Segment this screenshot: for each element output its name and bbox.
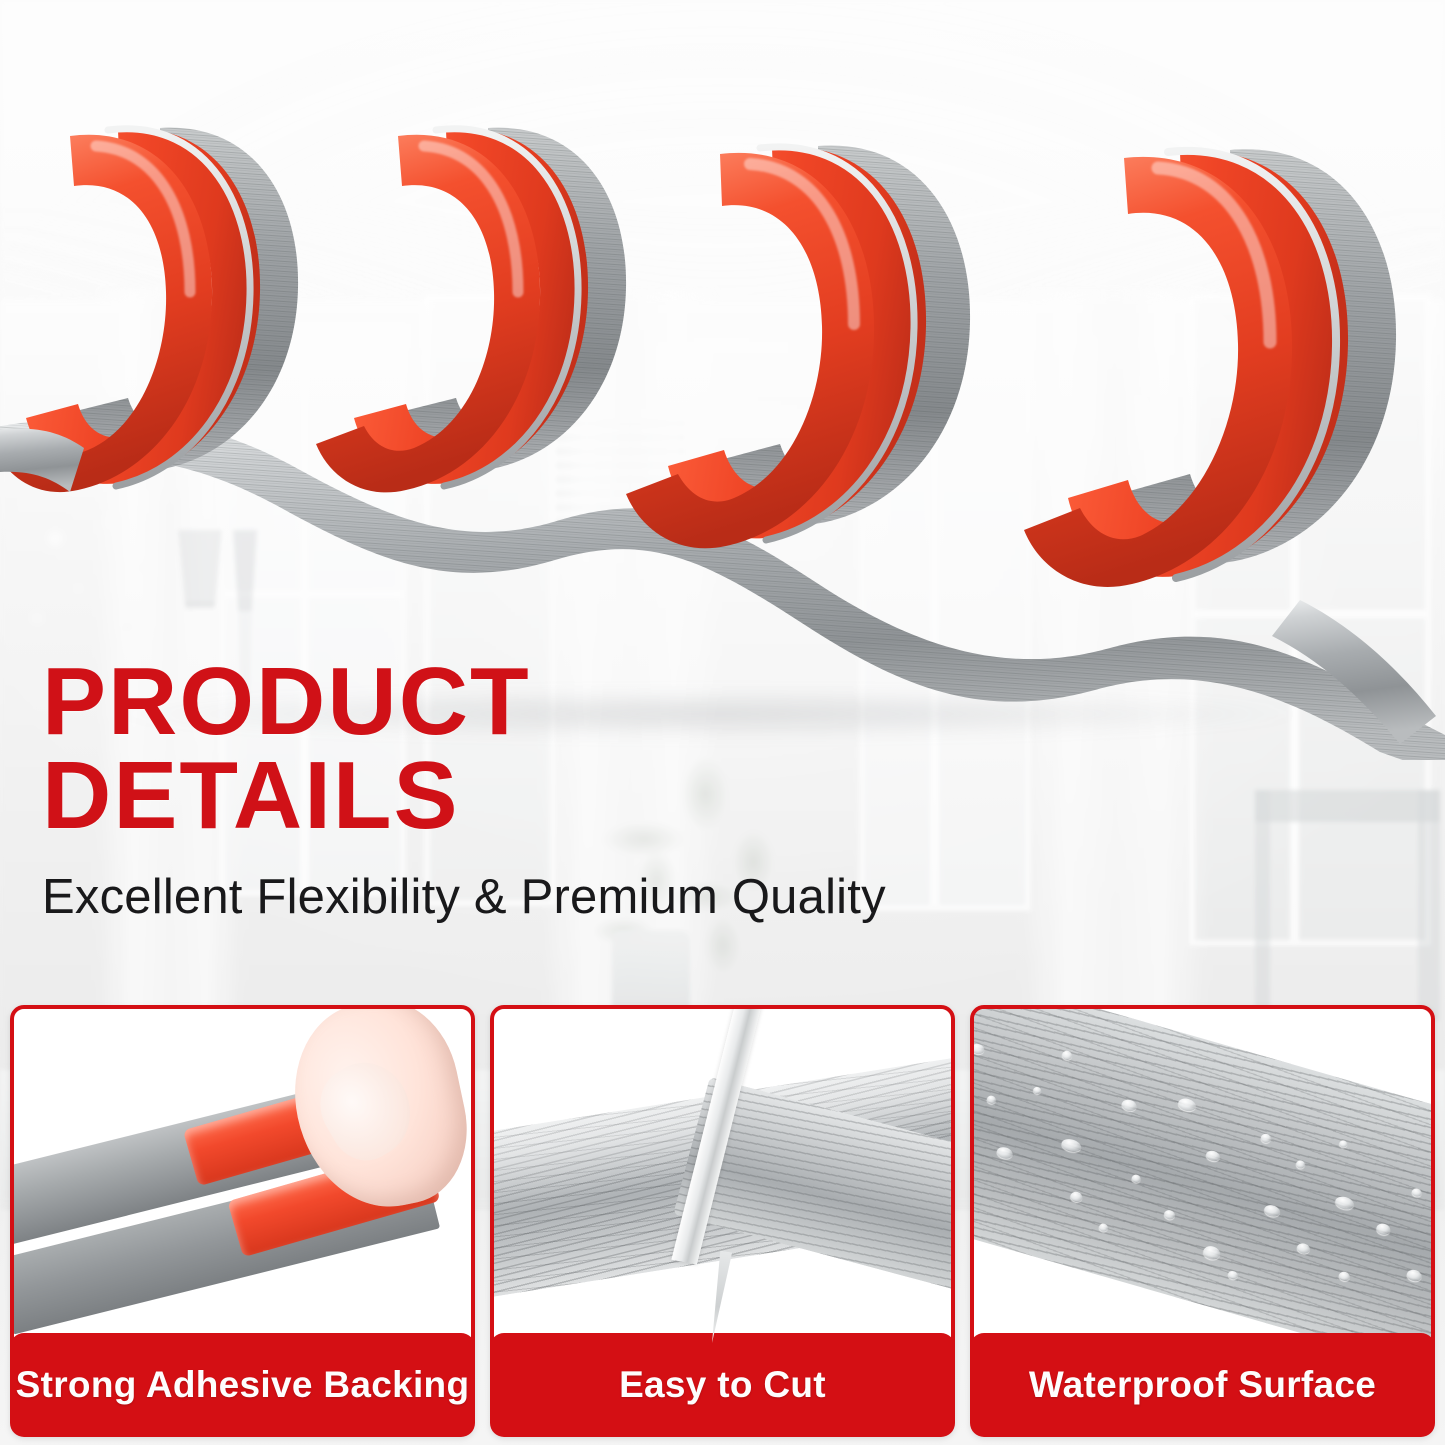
page-subtitle: Excellent Flexibility & Premium Quality (42, 869, 1162, 925)
feature-label-text: Easy to Cut (619, 1364, 826, 1406)
feature-label-adhesive-backing: Strong Adhesive Backing (10, 1333, 475, 1437)
feature-label-text: Waterproof Surface (1029, 1364, 1376, 1406)
feature-label-waterproof-surface: Waterproof Surface (970, 1333, 1435, 1437)
adhesive-backing-photo (10, 1005, 475, 1369)
page-title-line-2: DETAILS (42, 749, 1162, 843)
hero-product-coils (0, 0, 1445, 760)
easy-to-cut-photo (490, 1005, 955, 1369)
feature-label-text: Strong Adhesive Backing (16, 1364, 470, 1406)
waterproof-grain-strip (970, 1005, 1435, 1369)
coil-2 (316, 128, 626, 493)
waterproof-surface-photo (970, 1005, 1435, 1369)
page-title-line-1: PRODUCT (42, 655, 1162, 749)
thumbnail (306, 1047, 428, 1172)
water-droplets (970, 1005, 1435, 1369)
coil-1 (0, 128, 298, 492)
feature-card-waterproof-surface[interactable]: Waterproof Surface (970, 1005, 1435, 1437)
page-title: PRODUCT DETAILS (42, 655, 1162, 843)
feature-card-easy-to-cut[interactable]: Easy to Cut (490, 1005, 955, 1437)
feature-card-adhesive-backing[interactable]: Strong Adhesive Backing (10, 1005, 475, 1437)
cutting-blade-tip-icon (706, 1251, 732, 1344)
feature-label-easy-to-cut: Easy to Cut (490, 1333, 955, 1437)
headline-block: PRODUCT DETAILS Excellent Flexibility & … (42, 655, 1162, 925)
coil-3 (626, 145, 970, 548)
product-detail-banner: PRODUCT DETAILS Excellent Flexibility & … (0, 0, 1445, 1445)
feature-panel-row: Strong Adhesive Backing Easy to Cut (10, 1005, 1435, 1437)
